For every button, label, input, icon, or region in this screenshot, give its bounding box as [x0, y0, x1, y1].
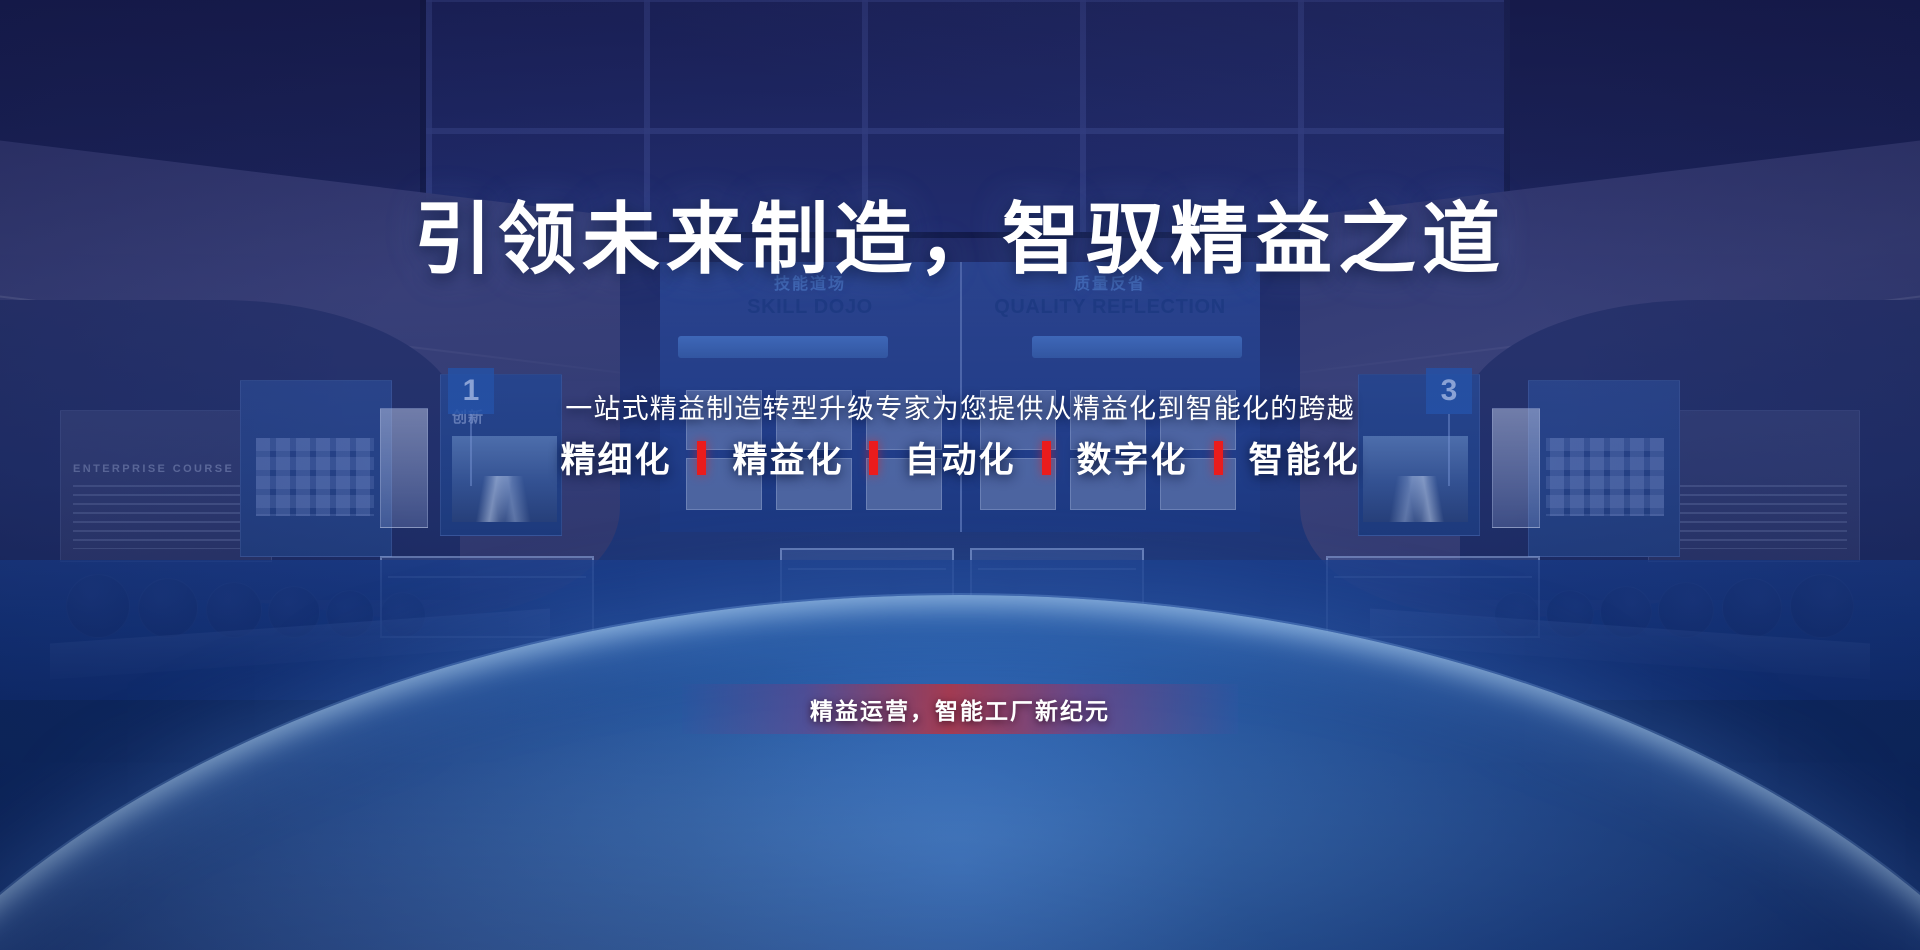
keyword-item: 自动化: [878, 432, 1041, 483]
keyword-item: 精细化: [534, 432, 697, 483]
keyword-separator-icon: [697, 441, 706, 475]
page-title: 引领未来制造，智驭精益之道: [0, 200, 1920, 278]
tagline-badge: 精益运营，智能工厂新纪元: [682, 684, 1238, 734]
hero-banner: ENTERPRISE COURSE 创新: [0, 0, 1920, 950]
keyword-separator-icon: [1042, 441, 1051, 475]
keyword-separator-icon: [1214, 441, 1223, 475]
keyword-item: 精益化: [706, 432, 869, 483]
hero-content: 引领未来制造，智驭精益之道 一站式精益制造转型升级专家为您提供从精益化到智能化的…: [0, 0, 1920, 950]
keyword-list: 精细化 精益化 自动化 数字化 智能化: [0, 432, 1920, 483]
keyword-item: 智能化: [1223, 432, 1386, 483]
tagline-text: 精益运营，智能工厂新纪元: [810, 692, 1110, 726]
keyword-item: 数字化: [1051, 432, 1214, 483]
keyword-separator-icon: [869, 441, 878, 475]
hero-subtitle: 一站式精益制造转型升级专家为您提供从精益化到智能化的跨越: [0, 387, 1920, 426]
